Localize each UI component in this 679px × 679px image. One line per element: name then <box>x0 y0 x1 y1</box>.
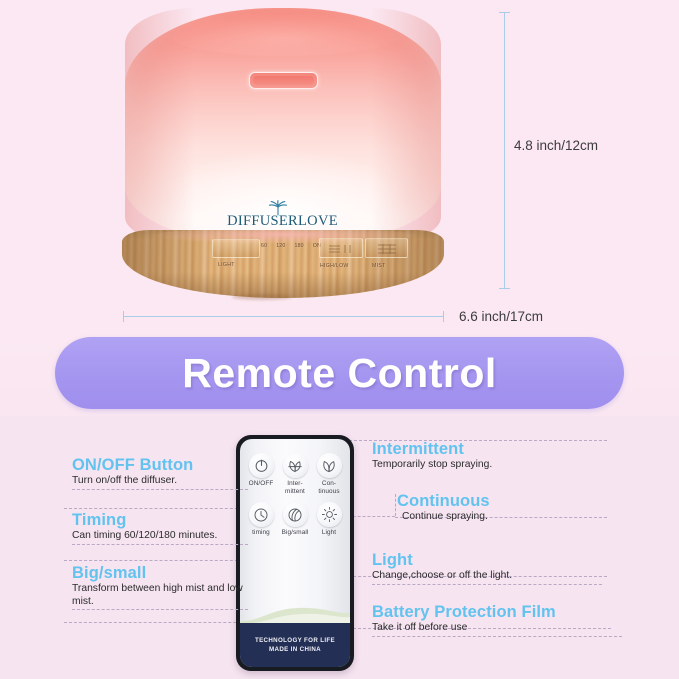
callout-onoff-rule <box>72 489 248 490</box>
banner-title: Remote Control <box>182 350 497 397</box>
callout-battery-title: Battery Protection Film <box>372 603 622 622</box>
remote-button-grid: ON/OFF <box>240 453 350 544</box>
remote-button-bigsmall-label: Big/small <box>279 529 311 537</box>
remote-button-timing-label: timing <box>245 529 277 537</box>
leaf-split-icon <box>283 453 308 478</box>
leaf-pair-icon <box>317 453 342 478</box>
brand-logo-text: DIFFUSERLOVE <box>215 213 350 230</box>
callout-intermittent-title: Intermittent <box>372 440 602 459</box>
height-dimension-cap-top <box>499 12 510 13</box>
height-dimension-label: 4.8 inch/12cm <box>514 138 598 153</box>
base-mist-button[interactable] <box>365 238 408 258</box>
connector-onoff-horizontal <box>64 508 258 509</box>
callout-onoff-desc: Turn on/off the diffuser. <box>72 475 248 488</box>
width-dimension-cap-left <box>123 311 124 322</box>
callout-bigsmall-title: Big/small <box>72 564 248 583</box>
remote-button-continuous-label: Con-tinuous <box>313 480 345 495</box>
remote-button-row-2: timing <box>240 502 350 537</box>
remote-button-intermittent-label: Inter-mittent <box>279 480 311 495</box>
callout-light-rule <box>372 584 602 585</box>
remote-button-light-label: Light <box>313 529 345 537</box>
remote-button-light[interactable]: Light <box>313 502 345 537</box>
height-dimension-cap-bottom <box>499 288 510 289</box>
remote-control-device[interactable]: ON/OFF <box>236 435 354 671</box>
dome-top-highlight <box>164 12 404 56</box>
bars-icon <box>327 244 357 254</box>
timer-mark-120: 120 <box>276 243 285 249</box>
callout-timing-desc: Can timing 60/120/180 minutes. <box>72 530 248 543</box>
connector-continuous-vertical-down <box>395 494 396 516</box>
remote-wave-graphic <box>240 603 350 625</box>
height-dimension-line <box>504 12 505 289</box>
base-light-label: LIGHT <box>218 262 235 268</box>
width-dimension-line <box>123 316 444 317</box>
callout-bigsmall-rule <box>72 609 248 610</box>
callout-continuous: Continuous Continue spraying. <box>397 492 607 524</box>
callout-timing-rule <box>72 544 248 545</box>
diffuser-wood-base: LIGHT 60 120 180 ON <box>122 230 444 298</box>
remote-diagram-section: ON/OFF <box>0 416 679 679</box>
remote-footer: TECHNOLOGY FOR LIFE MADE IN CHINA <box>240 623 350 667</box>
callout-light: Light Change,choose or off the light. <box>372 551 602 585</box>
sun-icon <box>317 502 342 527</box>
power-icon <box>249 453 274 478</box>
base-timer-scale: 60 120 180 ON <box>261 243 321 249</box>
base-light-button[interactable] <box>212 239 260 258</box>
timer-mark-60: 60 <box>261 243 267 249</box>
callout-bigsmall: Big/small Transform between high mist an… <box>72 564 248 610</box>
callout-light-title: Light <box>372 551 602 570</box>
base-mist-label: MIST <box>372 263 386 269</box>
swirl-icon <box>283 502 308 527</box>
clock-icon <box>249 502 274 527</box>
banner-section: Remote Control <box>0 330 679 416</box>
callout-battery-desc: Take it off before use <box>372 622 622 635</box>
product-infographic: DIFFUSERLOVE LIGHT 60 120 180 ON <box>0 0 679 679</box>
remote-button-intermittent[interactable]: Inter-mittent <box>279 453 311 495</box>
base-high-low-label: HIGH/LOW <box>320 263 349 269</box>
remote-button-bigsmall[interactable]: Big/small <box>279 502 311 537</box>
callout-light-desc: Change,choose or off the light. <box>372 570 602 583</box>
remote-footer-line-1: TECHNOLOGY FOR LIFE <box>255 636 335 645</box>
width-dimension-cap-right <box>443 311 444 322</box>
remote-footer-line-2: MADE IN CHINA <box>269 645 321 654</box>
diffuser-product: DIFFUSERLOVE LIGHT 60 120 180 ON <box>122 8 444 298</box>
callout-timing-title: Timing <box>72 511 248 530</box>
callout-continuous-title: Continuous <box>397 492 607 511</box>
width-dimension-label: 6.6 inch/17cm <box>459 309 543 324</box>
connector-timing-horizontal <box>64 560 258 561</box>
callout-timing: Timing Can timing 60/120/180 minutes. <box>72 511 248 545</box>
base-foot-shadow <box>232 294 292 300</box>
mist-outlet-inner <box>253 76 314 85</box>
remote-button-row-1: ON/OFF <box>240 453 350 495</box>
callout-intermittent-desc: Temporarily stop spraying. <box>372 459 602 472</box>
remote-face: ON/OFF <box>240 439 350 667</box>
remote-control-banner: Remote Control <box>55 337 624 409</box>
base-high-low-button[interactable] <box>319 238 363 258</box>
callout-onoff-button: ON/OFF Button Turn on/off the diffuser. <box>72 456 248 490</box>
callout-onoff-title: ON/OFF Button <box>72 456 248 475</box>
callout-battery-rule <box>372 636 622 637</box>
grid-icon <box>376 243 398 255</box>
mist-outlet-slot <box>249 72 318 89</box>
remote-button-onoff[interactable]: ON/OFF <box>245 453 277 488</box>
remote-button-continuous[interactable]: Con-tinuous <box>313 453 345 495</box>
product-photo-section: DIFFUSERLOVE LIGHT 60 120 180 ON <box>0 0 679 330</box>
callout-continuous-desc: Continue spraying. <box>397 511 607 524</box>
remote-button-onoff-label: ON/OFF <box>245 480 277 488</box>
callout-battery-protection-film: Battery Protection Film Take it off befo… <box>372 603 622 637</box>
timer-mark-180: 180 <box>295 243 304 249</box>
callout-intermittent: Intermittent Temporarily stop spraying. <box>372 440 602 472</box>
callout-bigsmall-desc: Transform between high mist and low mist… <box>72 583 248 608</box>
remote-button-timing[interactable]: timing <box>245 502 277 537</box>
